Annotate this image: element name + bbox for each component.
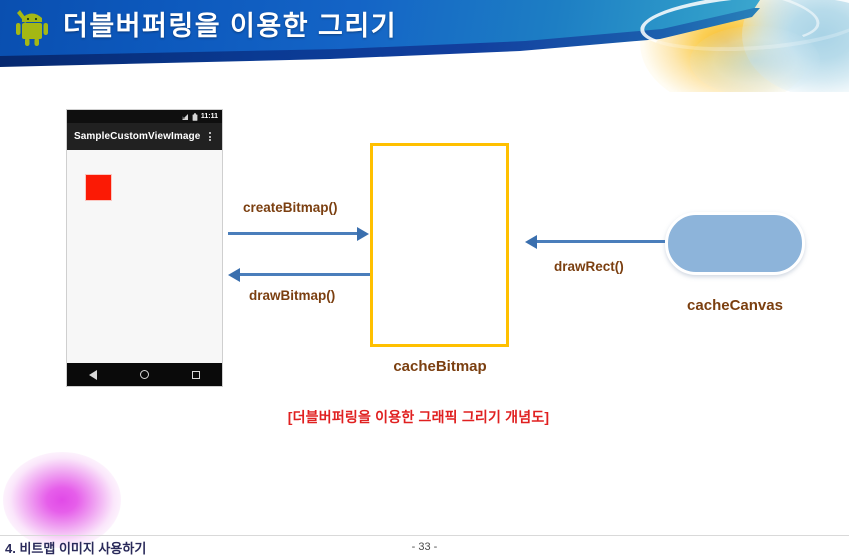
footer-divider xyxy=(0,535,849,536)
create-bitmap-label: createBitmap() xyxy=(243,200,338,215)
cache-bitmap-label: cacheBitmap xyxy=(330,358,550,375)
cache-canvas-label: cacheCanvas xyxy=(625,297,845,314)
phone-app-bar: SampleCustomViewImage xyxy=(67,123,222,150)
home-circle-icon[interactable] xyxy=(140,370,149,379)
phone-status-bar: 11:11 xyxy=(67,110,222,123)
create-bitmap-arrow-line xyxy=(228,232,358,235)
page-number: - 33 - xyxy=(0,541,849,553)
create-bitmap-arrow-head xyxy=(357,227,369,241)
cache-bitmap-shape xyxy=(370,143,509,347)
diagram-caption: [더블버퍼링을 이용한 그래픽 그리기 개념도] xyxy=(0,407,849,427)
footer-purple-glow xyxy=(3,452,121,548)
status-bar-clock: 11:11 xyxy=(201,113,218,120)
cache-canvas-shape xyxy=(665,212,805,275)
page-title: 더블버퍼링을 이용한 그리기 xyxy=(63,4,397,43)
back-triangle-icon[interactable] xyxy=(89,370,97,380)
android-robot-icon xyxy=(9,4,55,48)
draw-bitmap-label: drawBitmap() xyxy=(249,288,335,303)
phone-canvas-area xyxy=(67,150,222,365)
overflow-menu-icon[interactable] xyxy=(206,130,214,143)
diagram-caption-text: [더블버퍼링을 이용한 그래픽 그리기 개념도] xyxy=(288,409,550,425)
red-square-shape xyxy=(86,175,111,200)
phone-navigation-bar xyxy=(67,363,222,386)
phone-mockup: 11:11 SampleCustomViewImage xyxy=(66,109,223,387)
slide-header: 더블버퍼링을 이용한 그리기 xyxy=(0,0,849,92)
draw-rect-arrow-line xyxy=(537,240,665,243)
draw-rect-label: drawRect() xyxy=(554,259,624,274)
recents-square-icon[interactable] xyxy=(192,371,200,379)
app-bar-title: SampleCustomViewImage xyxy=(74,131,200,142)
draw-rect-arrow-head xyxy=(525,235,537,249)
battery-icon xyxy=(192,113,198,121)
draw-bitmap-arrow-line xyxy=(240,273,370,276)
slide-root: 더블버퍼링을 이용한 그리기 11:11 SampleCustomViewIma… xyxy=(0,0,849,557)
signal-triangle-icon xyxy=(181,113,189,121)
draw-bitmap-arrow-head xyxy=(228,268,240,282)
